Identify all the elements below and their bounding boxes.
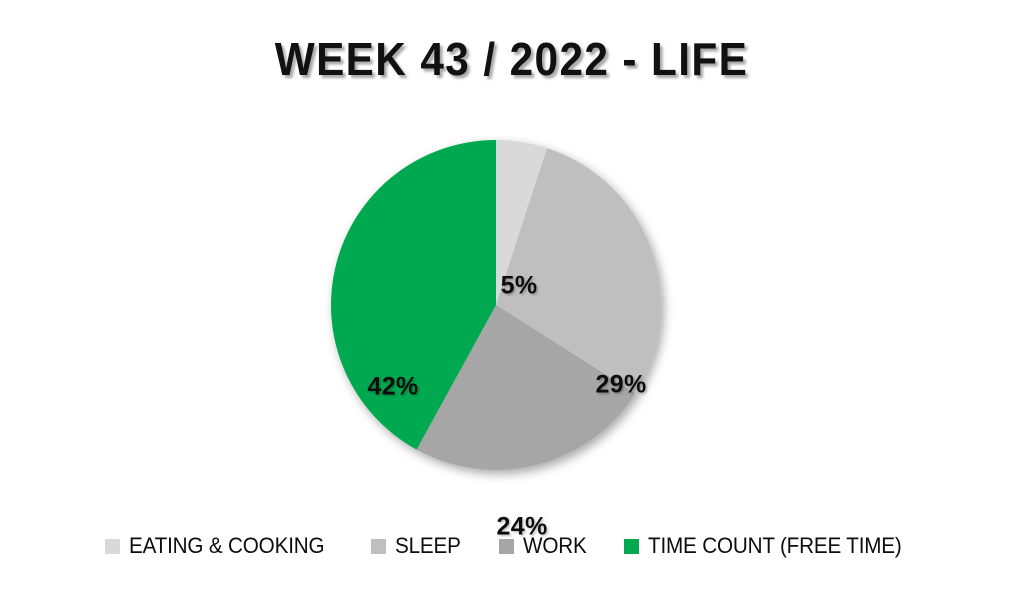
legend-item[interactable]: WORK bbox=[499, 533, 591, 559]
slice-value-label: 42% bbox=[368, 373, 419, 402]
pie-svg bbox=[331, 140, 661, 470]
legend-item[interactable]: SLEEP bbox=[371, 533, 465, 559]
chart-legend: EATING & COOKINGSLEEPWORKTIME COUNT (FRE… bbox=[0, 533, 1023, 559]
plot-area: 5% 29% 24% 42% bbox=[0, 110, 1023, 500]
legend-item[interactable]: TIME COUNT (FREE TIME) bbox=[624, 533, 918, 559]
slice-value-label: 5% bbox=[501, 272, 538, 301]
legend-swatch-icon bbox=[624, 539, 639, 554]
legend-swatch-icon bbox=[499, 539, 514, 554]
pie-slices-group bbox=[331, 140, 661, 470]
legend-item-label: TIME COUNT (FREE TIME) bbox=[648, 533, 902, 559]
legend-swatch-icon bbox=[105, 539, 120, 554]
legend-item-label: SLEEP bbox=[395, 533, 461, 559]
legend-item-label: EATING & COOKING bbox=[129, 533, 324, 559]
legend-swatch-icon bbox=[371, 539, 386, 554]
slice-value-label: 29% bbox=[596, 371, 647, 400]
legend-item[interactable]: EATING & COOKING bbox=[105, 533, 337, 559]
pie-graphic bbox=[331, 140, 661, 470]
pie-chart-figure: WEEK 43 / 2022 - LIFE 5% 29% 24% 42% EAT… bbox=[0, 0, 1023, 597]
legend-item-label: WORK bbox=[523, 533, 587, 559]
chart-title: WEEK 43 / 2022 - LIFE bbox=[41, 34, 982, 85]
